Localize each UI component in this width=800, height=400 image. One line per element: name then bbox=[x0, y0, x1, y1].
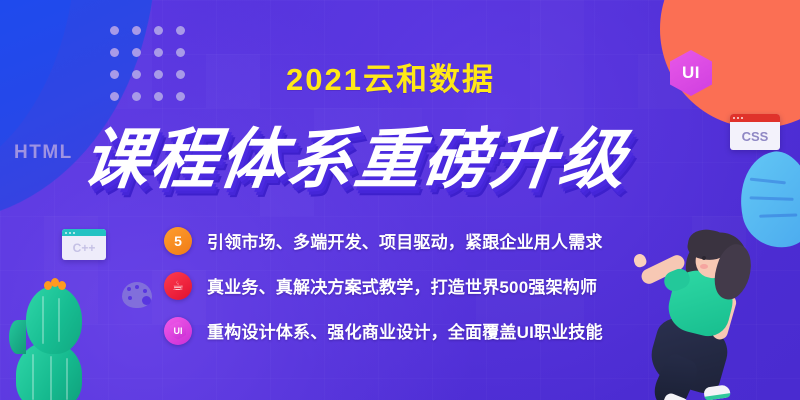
promo-banner: HTML C++ CSS bbox=[0, 0, 800, 400]
banner-subtitle: 2021云和数据 bbox=[286, 54, 495, 99]
css-card-label: CSS bbox=[730, 122, 780, 150]
feature-text: 真业务、真解决方案式教学，打造世界500强架构师 bbox=[207, 273, 597, 298]
html5-icon: 5 bbox=[164, 227, 192, 255]
css-card-titlebar bbox=[730, 114, 780, 122]
html-watermark-text: HTML bbox=[14, 142, 73, 164]
cpp-card-label: C++ bbox=[62, 236, 106, 260]
cactus-flower-icon bbox=[44, 278, 66, 291]
java-icon: ☕ bbox=[164, 272, 192, 300]
ui-design-icon: UI bbox=[164, 317, 192, 345]
feature-text: 重构设计体系、强化商业设计，全面覆盖UI职业技能 bbox=[207, 318, 603, 343]
feature-item: UI 重构设计体系、强化商业设计，全面覆盖UI职业技能 bbox=[164, 308, 614, 353]
banner-headline: 课程体系重磅升级 bbox=[78, 106, 634, 202]
dot-grid-icon bbox=[110, 26, 185, 101]
feature-text: 引领市场、多端开发、项目驱动，紧跟企业用人需求 bbox=[207, 228, 603, 253]
feature-item: 5 引领市场、多端开发、项目驱动，紧跟企业用人需求 bbox=[164, 218, 614, 263]
css-card: CSS bbox=[730, 114, 780, 150]
cpp-card-titlebar bbox=[62, 229, 106, 236]
pointing-woman-illustration bbox=[612, 236, 787, 400]
ui-hexagon-label: UI bbox=[682, 63, 700, 83]
cpp-card: C++ bbox=[62, 229, 106, 260]
palette-icon bbox=[122, 282, 152, 308]
feature-list: 5 引领市场、多端开发、项目驱动，紧跟企业用人需求 ☕ 真业务、真解决方案式教学… bbox=[164, 218, 614, 353]
cactus-illustration bbox=[8, 268, 100, 400]
feature-item: ☕ 真业务、真解决方案式教学，打造世界500强架构师 bbox=[164, 263, 614, 308]
